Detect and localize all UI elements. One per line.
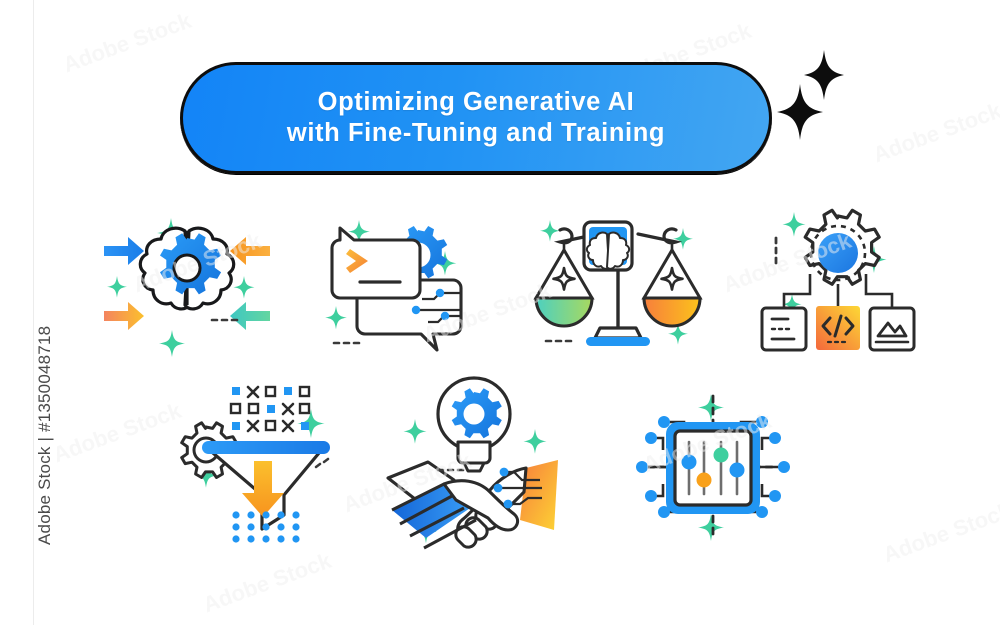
arrow-in-bottom-right bbox=[230, 302, 270, 330]
watermark-tile: Adobe Stock bbox=[50, 398, 185, 468]
watermark-tile: Adobe Stock bbox=[200, 548, 335, 618]
sparkle-icon bbox=[776, 46, 846, 126]
clean-data-dots bbox=[232, 511, 299, 542]
icon-data-filtering bbox=[170, 375, 360, 550]
scale-base-bar bbox=[586, 337, 650, 346]
gear-icon bbox=[805, 210, 879, 284]
watermark-strip: Adobe Stock | #1350048718 bbox=[0, 0, 34, 625]
watermark-tile: Adobe Stock bbox=[60, 8, 195, 78]
scale-column bbox=[586, 268, 650, 346]
title-banner-group: Optimizing Generative AI with Fine-Tunin… bbox=[180, 62, 830, 174]
output-code-box bbox=[816, 306, 860, 350]
watermark-tile: Adobe Stock bbox=[880, 498, 1000, 568]
noisy-data-grid bbox=[231, 387, 309, 431]
arrow-in-bottom-left bbox=[104, 302, 144, 330]
slider-knob-blue bbox=[682, 455, 697, 470]
title-banner: Optimizing Generative AI with Fine-Tunin… bbox=[180, 62, 772, 174]
dashes-decoration bbox=[316, 459, 328, 467]
title-line-1: Optimizing Generative AI bbox=[318, 88, 635, 116]
funnel-blue-bar bbox=[202, 441, 330, 454]
watermark-tile: Adobe Stock bbox=[870, 98, 1000, 168]
icon-model-optimization bbox=[92, 198, 282, 373]
slider-knob-blue-2 bbox=[730, 463, 745, 478]
icon-collaboration bbox=[382, 372, 572, 557]
icon-multimodal-output bbox=[748, 198, 928, 373]
output-document-box bbox=[762, 308, 806, 350]
page-title: Optimizing Generative AI with Fine-Tunin… bbox=[287, 87, 665, 149]
icon-model-evaluation bbox=[528, 198, 708, 373]
scale-pan-right bbox=[644, 240, 700, 326]
icon-prompt-engineering bbox=[312, 198, 492, 373]
slider-knob-green bbox=[714, 448, 729, 463]
arm-left bbox=[388, 462, 518, 548]
icon-hyperparameter-tuning bbox=[618, 372, 808, 557]
chat-bubble-primary bbox=[332, 228, 420, 298]
title-line-2: with Fine-Tuning and Training bbox=[287, 119, 665, 147]
arrow-in-top-left bbox=[104, 237, 144, 265]
gear-core bbox=[818, 233, 858, 273]
output-image-box bbox=[870, 308, 914, 350]
brain-panel bbox=[584, 222, 632, 270]
slider-knob-orange bbox=[697, 473, 712, 488]
watermark-label: Adobe Stock | #1350048718 bbox=[35, 25, 55, 545]
chip-frame bbox=[666, 422, 760, 514]
arrow-in-top-right bbox=[230, 237, 270, 265]
lightbulb-icon bbox=[438, 378, 510, 471]
